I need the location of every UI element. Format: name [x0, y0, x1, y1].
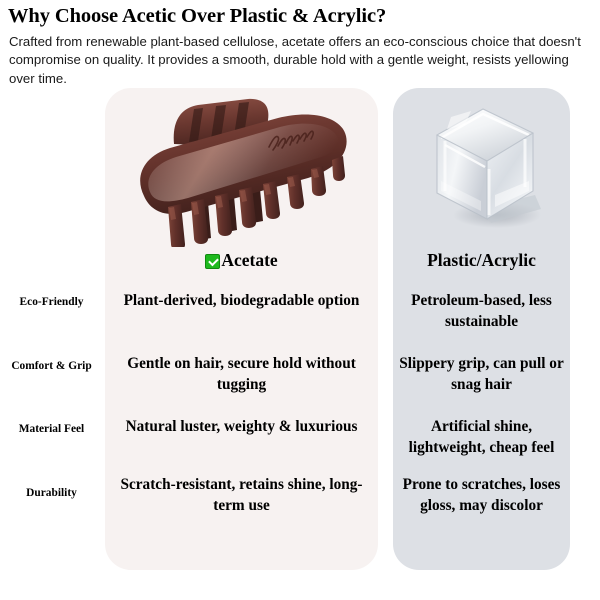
cell-plastic-material-feel: Artificial shine, lightweight, cheap fee… — [399, 416, 564, 458]
cell-plastic-comfort-and-grip: Slippery grip, can pull or snag hair — [399, 353, 564, 395]
column-header-plastic: Plastic/Acrylic — [393, 250, 570, 271]
row-label-comfort-and-grip: Comfort & Grip — [0, 360, 103, 372]
cell-acetate-material-feel: Natural luster, weighty & luxurious — [113, 416, 370, 437]
intro-paragraph: Crafted from renewable plant-based cellu… — [9, 33, 595, 88]
cell-plastic-eco-friendly: Petroleum-based, less sustainable — [399, 290, 564, 332]
cell-acetate-eco-friendly: Plant-derived, biodegradable option — [113, 290, 370, 311]
brown-acetate-hair-claw-clip-image — [128, 92, 360, 247]
row-label-material-feel: Material Feel — [0, 423, 103, 435]
comparison-infographic: Why Choose Acetic Over Plastic & Acrylic… — [0, 0, 600, 600]
row-label-eco-friendly: Eco-Friendly — [0, 296, 103, 308]
cell-plastic-durability: Prone to scratches, loses gloss, may dis… — [399, 474, 564, 516]
column-header-acetate: Acetate — [105, 250, 378, 271]
cell-acetate-comfort-and-grip: Gentle on hair, secure hold without tugg… — [113, 353, 370, 395]
row-label-durability: Durability — [0, 487, 103, 499]
page-title: Why Choose Acetic Over Plastic & Acrylic… — [8, 5, 592, 28]
white-check-mark-icon — [205, 254, 220, 269]
column-header-acetate-label: Acetate — [221, 250, 277, 271]
clear-acrylic-cube-image — [425, 95, 545, 240]
column-header-plastic-label: Plastic/Acrylic — [427, 250, 536, 271]
cell-acetate-durability: Scratch-resistant, retains shine, long-t… — [113, 474, 370, 516]
